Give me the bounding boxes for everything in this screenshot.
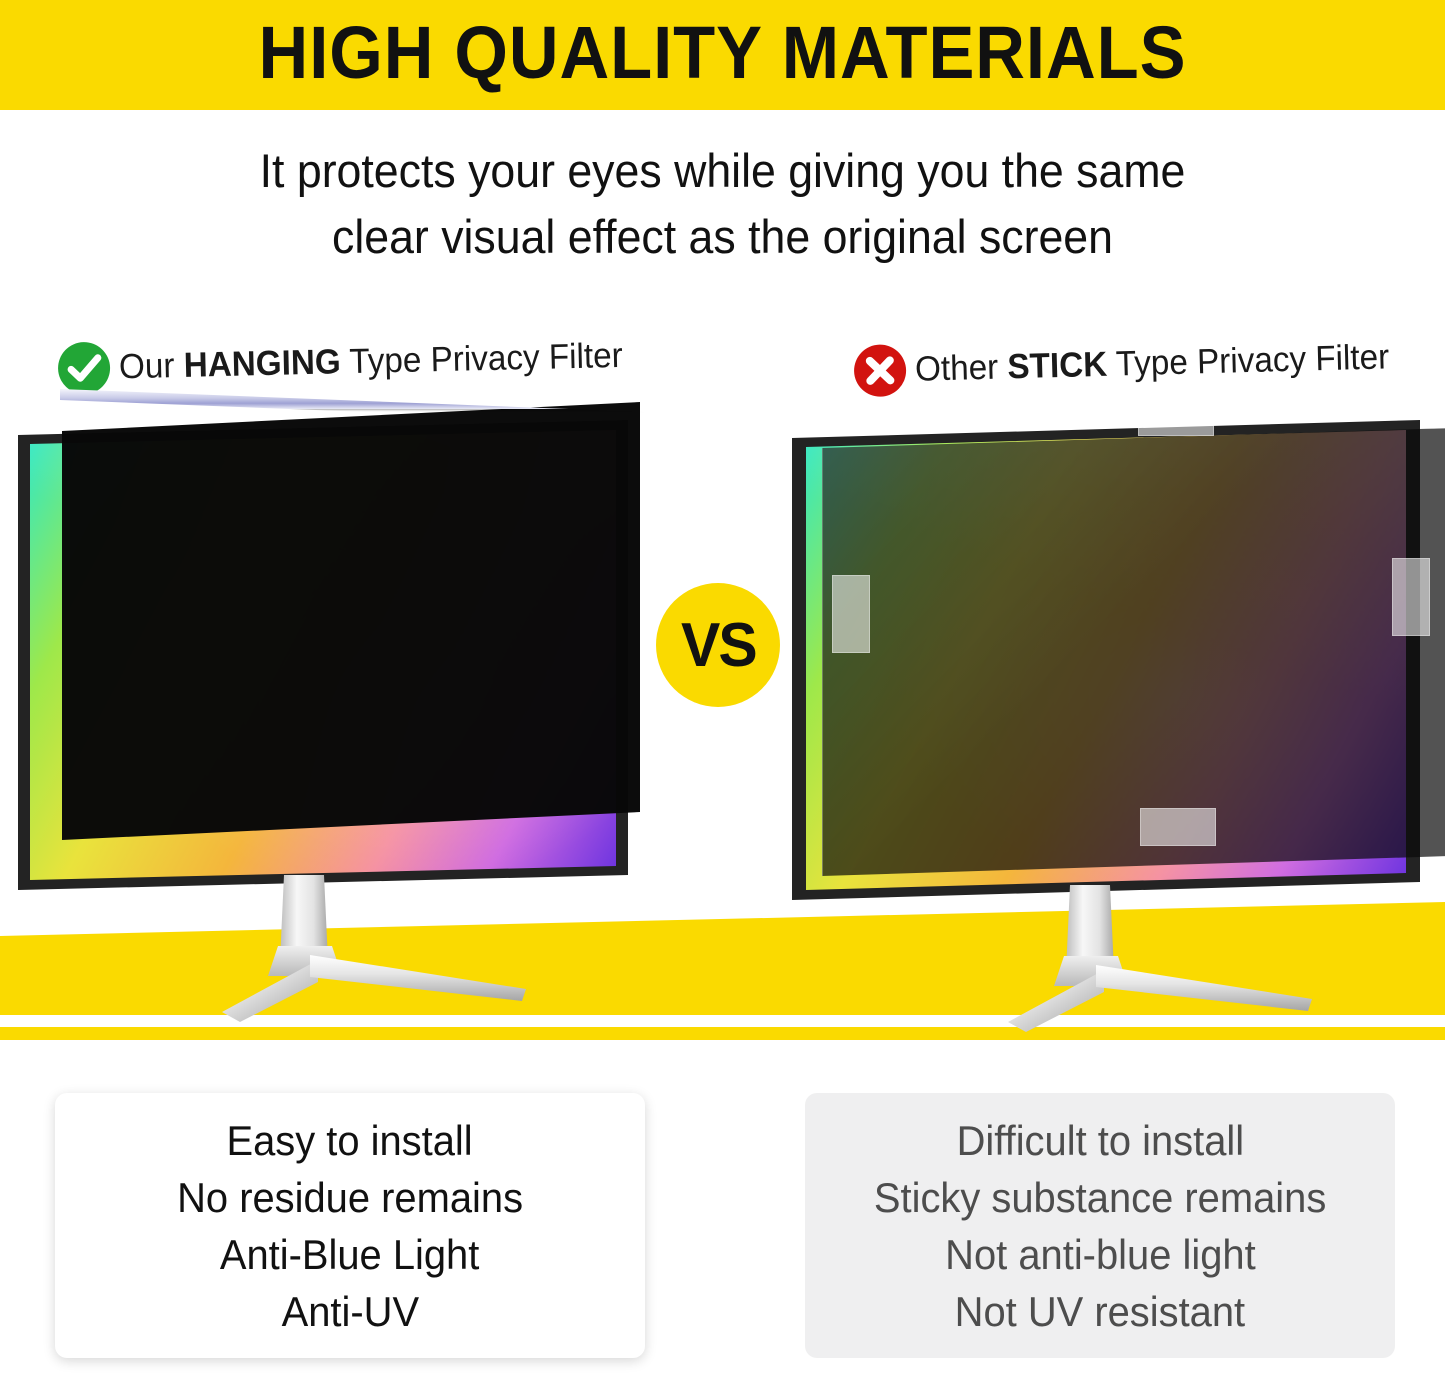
sticky-tape-tab-left [832,575,870,653]
privacy-filter-stick [822,428,1445,878]
sticky-tape-tab-right [1392,558,1430,636]
left-label-suffix: Type Privacy Filter [340,336,623,381]
pros-line-1: Easy to install [227,1112,473,1169]
right-label-suffix: Type Privacy Filter [1107,337,1390,383]
infographic-page: HIGH QUALITY MATERIALS It protects your … [0,0,1445,1379]
page-title: HIGH QUALITY MATERIALS [51,10,1395,95]
subtitle-line-1: It protects your eyes while giving you t… [36,138,1409,204]
subtitle-line-2: clear visual effect as the original scre… [36,204,1409,270]
vs-badge: VS [656,583,780,707]
vs-label: VS [681,610,756,681]
yellow-divider-stripe [0,1027,1445,1040]
cons-line-4: Not UV resistant [955,1283,1245,1340]
cons-line-1: Difficult to install [956,1112,1244,1169]
monitor-stick-type [780,380,1445,1000]
sticky-tape-tab-top [1138,398,1214,436]
pros-line-2: No residue remains [177,1169,523,1226]
cons-line-3: Not anti-blue light [945,1226,1256,1283]
hanging-mount-strip [60,389,644,409]
pros-line-3: Anti-Blue Light [220,1226,480,1283]
sticky-tape-tab-bottom [1140,808,1216,846]
cons-card: Difficult to install Sticky substance re… [805,1093,1395,1358]
cons-line-2: Sticky substance remains [874,1169,1326,1226]
pros-card: Easy to install No residue remains Anti-… [55,1093,645,1358]
page-subtitle: It protects your eyes while giving you t… [36,138,1409,270]
privacy-filter-hanging [62,402,640,840]
left-label-emphasis: HANGING [183,342,341,385]
pros-line-4: Anti-UV [281,1283,418,1340]
monitor-stand-foot-right-arm [310,955,526,1001]
monitor-hanging-type [0,380,660,1000]
